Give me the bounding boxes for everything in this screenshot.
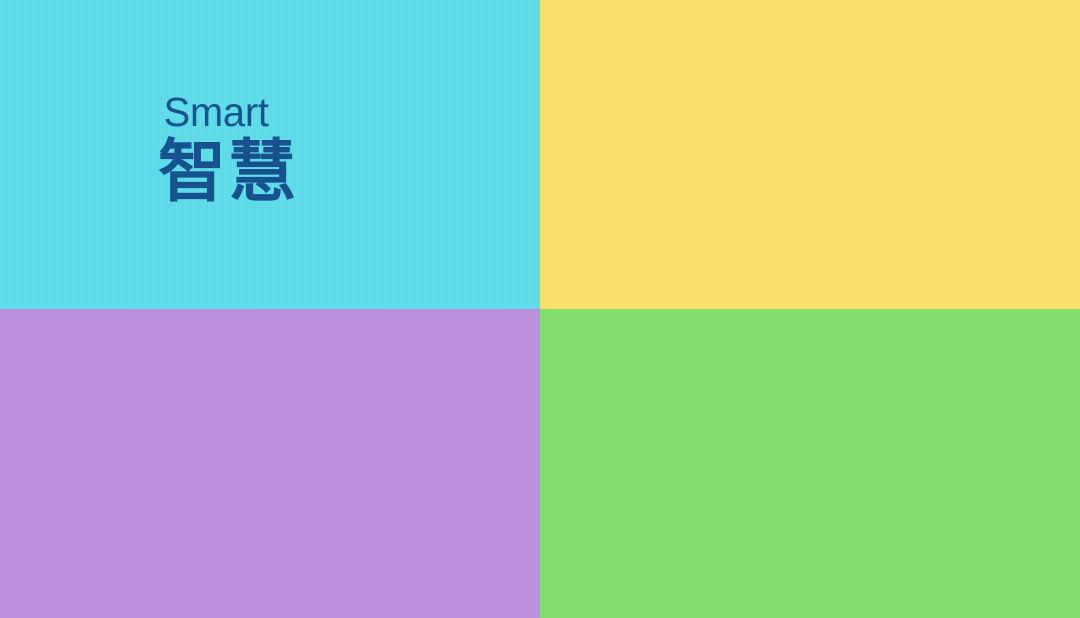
- quadrant-smart: Smart 智慧: [0, 0, 540, 309]
- quadrant-energetic: Energetic 活力: [540, 0, 1080, 309]
- quadrant-sustainable: Sustainable 永續: [540, 309, 1080, 618]
- value-quadrant-poster: Smart 智慧 Energetic 活力 Innovative 創新 Sust…: [0, 0, 1080, 618]
- value-label-chinese-smart: 智慧: [158, 138, 298, 206]
- value-block-smart: Smart 智慧: [152, 92, 298, 206]
- quadrant-innovative: Innovative 創新: [0, 309, 540, 618]
- value-label-english-smart: Smart: [163, 92, 268, 133]
